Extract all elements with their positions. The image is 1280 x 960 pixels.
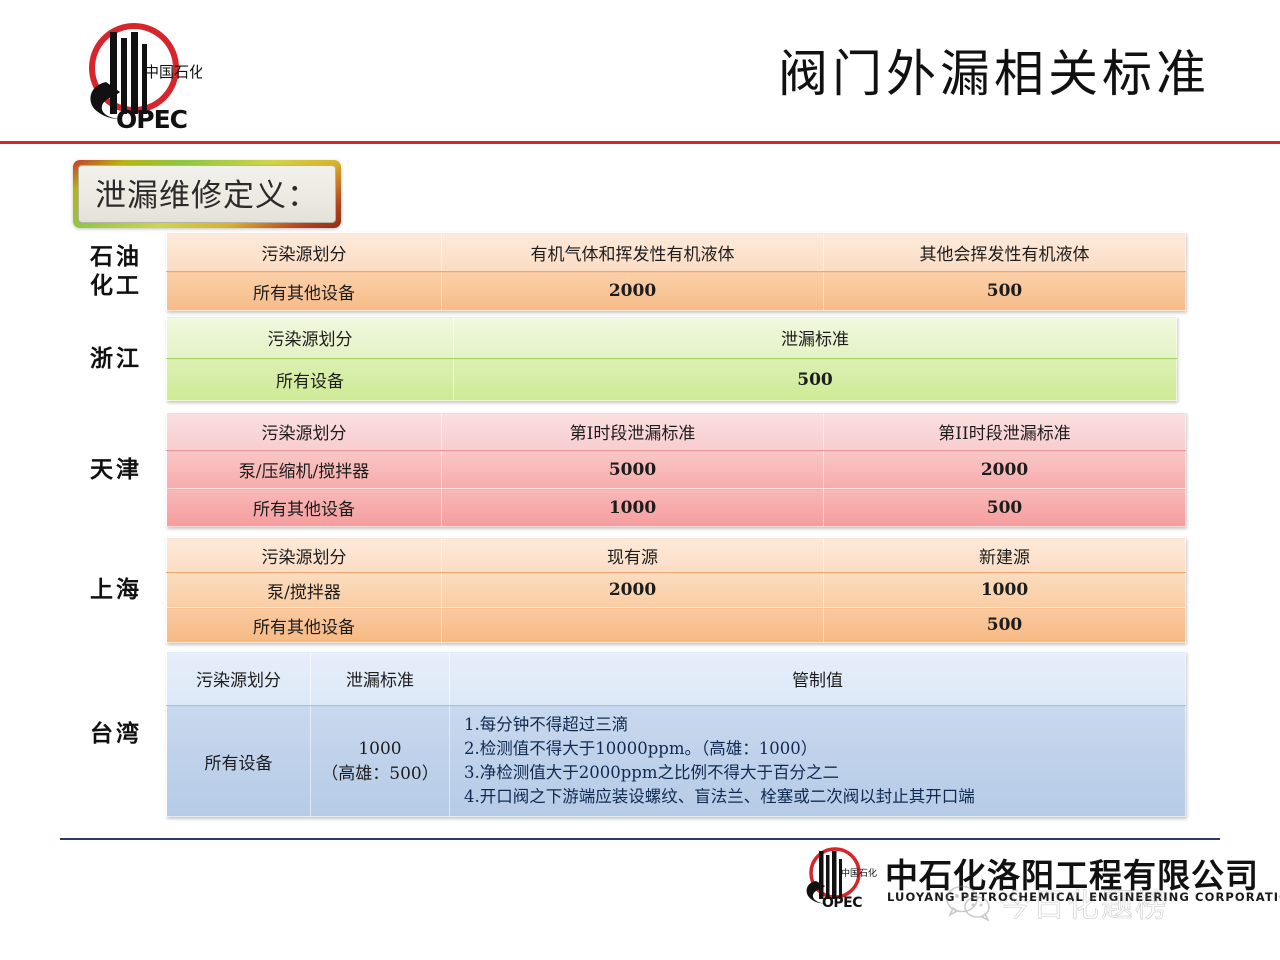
col-header-phase1: 第I时段泄漏标准 (442, 413, 824, 451)
slide-root: 中国石化 OPEC 阀门外漏相关标准 泄漏维修定义： 石油 化工 污染源划分 有… (0, 0, 1280, 960)
col-header-source: 污染源划分 (167, 233, 442, 272)
section-subtitle-box: 泄漏维修定义： (78, 165, 336, 223)
sinopec-logo-footer-svg: 中国石化 OPEC (795, 847, 877, 909)
table-header-row: 污染源划分 第I时段泄漏标准 第II时段泄漏标准 (167, 413, 1186, 451)
col-header-voc-gas: 有机气体和挥发性有机液体 (442, 233, 824, 272)
cell-source: 所有其他设备 (167, 272, 442, 311)
standard-value: 1000 (315, 739, 445, 759)
sinopec-logo-svg: 中国石化 OPEC (72, 22, 202, 132)
cell-value: 500 (824, 272, 1186, 311)
table-taiwan: 污染源划分 泄漏标准 管制值 所有设备 1000 （高雄：500） 1.每分钟不… (166, 651, 1186, 817)
slide-footer: 中国石化 OPEC 中石化洛阳工程有限公司 LUOYANG PETROCHEMI… (795, 845, 1235, 915)
row-label-shanghai: 上海 (72, 574, 160, 605)
table-header-row: 污染源划分 泄漏标准 管制值 (167, 652, 1186, 706)
col-header-phase2: 第II时段泄漏标准 (824, 413, 1186, 451)
cell-value: 500 (454, 359, 1177, 401)
cell-source: 泵/压缩机/搅拌器 (167, 451, 442, 489)
table-row: 泵/搅拌器 2000 1000 (167, 573, 1186, 608)
cell-value: 1000 (824, 573, 1186, 608)
cell-source: 所有其他设备 (167, 489, 442, 527)
cell-source: 所有其他设备 (167, 608, 442, 643)
table-petrochem: 污染源划分 有机气体和挥发性有机液体 其他会挥发性有机液体 所有其他设备 200… (166, 232, 1186, 311)
col-header-leak-standard: 泄漏标准 (454, 317, 1177, 359)
table-row: 所有设备 500 (167, 359, 1177, 401)
slide-header: 中国石化 OPEC 阀门外漏相关标准 (0, 0, 1280, 140)
table-zhejiang: 污染源划分 泄漏标准 所有设备 500 (166, 316, 1177, 401)
col-header-existing-source: 现有源 (442, 538, 824, 573)
cell-source: 所有设备 (167, 359, 454, 401)
table-header-row: 污染源划分 有机气体和挥发性有机液体 其他会挥发性有机液体 (167, 233, 1186, 272)
block-taiwan: 台湾 污染源划分 泄漏标准 管制值 所有设备 1000 （高雄：500） 1.每… (72, 651, 1186, 817)
sinopec-logo-footer: 中国石化 OPEC (795, 847, 877, 909)
row-label-line1: 石油 (72, 243, 160, 272)
control-rules-list: 1.每分钟不得超过三滴 2.检测值不得大于10000ppm。（高雄：1000） … (454, 707, 1181, 815)
table-row: 所有设备 1000 （高雄：500） 1.每分钟不得超过三滴 2.检测值不得大于… (167, 706, 1186, 817)
rule-item-4: 4.开口阀之下游端应装设螺纹、盲法兰、栓塞或二次阀以封止其开口端 (464, 785, 1171, 809)
block-shanghai: 上海 污染源划分 现有源 新建源 泵/搅拌器 2000 1000 所有其他设备 … (72, 537, 1186, 643)
col-header-source: 污染源划分 (167, 538, 442, 573)
table-row: 所有其他设备 500 (167, 608, 1186, 643)
block-tianjin: 天津 污染源划分 第I时段泄漏标准 第II时段泄漏标准 泵/压缩机/搅拌器 50… (72, 412, 1186, 527)
rule-item-2: 2.检测值不得大于10000ppm。（高雄：1000） (464, 737, 1171, 761)
col-header-control-value: 管制值 (450, 652, 1186, 706)
footer-divider (60, 838, 1220, 840)
sinopec-logo: 中国石化 OPEC (72, 22, 202, 132)
table-header-row: 污染源划分 泄漏标准 (167, 317, 1177, 359)
header-divider (0, 141, 1280, 144)
cell-control-rules: 1.每分钟不得超过三滴 2.检测值不得大于10000ppm。（高雄：1000） … (450, 706, 1186, 817)
cell-value: 5000 (442, 451, 824, 489)
rule-item-3: 3.净检测值大于2000ppm之比例不得大于百分之二 (464, 761, 1171, 785)
row-label-line2: 化工 (72, 272, 160, 301)
svg-text:中国石化: 中国石化 (144, 63, 202, 81)
cell-value: 500 (824, 608, 1186, 643)
table-header-row: 污染源划分 现有源 新建源 (167, 538, 1186, 573)
col-header-source: 污染源划分 (167, 413, 442, 451)
section-subtitle-text: 泄漏维修定义： (95, 170, 319, 215)
cell-value: 2000 (442, 272, 824, 311)
standard-note: （高雄：500） (315, 759, 445, 784)
row-label-tianjin: 天津 (72, 454, 160, 485)
col-header-source: 污染源划分 (167, 317, 454, 359)
cell-value: 1000 (442, 489, 824, 527)
svg-text:OPEC: OPEC (116, 105, 187, 132)
section-subtitle-frame: 泄漏维修定义： (73, 160, 341, 228)
table-tianjin: 污染源划分 第I时段泄漏标准 第II时段泄漏标准 泵/压缩机/搅拌器 5000 … (166, 412, 1186, 527)
col-header-new-source: 新建源 (824, 538, 1186, 573)
cell-source: 所有设备 (167, 706, 311, 817)
table-row: 泵/压缩机/搅拌器 5000 2000 (167, 451, 1186, 489)
page-title: 阀门外漏相关标准 (778, 34, 1210, 106)
cell-source: 泵/搅拌器 (167, 573, 442, 608)
footer-company-en: LUOYANG PETROCHEMICAL ENGINEERING CORPOR… (887, 890, 1280, 904)
cell-value: 2000 (442, 573, 824, 608)
rule-item-1: 1.每分钟不得超过三滴 (464, 713, 1171, 737)
cell-value (442, 608, 824, 643)
cell-standard: 1000 （高雄：500） (311, 706, 450, 817)
cell-value: 2000 (824, 451, 1186, 489)
table-row: 所有其他设备 1000 500 (167, 489, 1186, 527)
table-row: 所有其他设备 2000 500 (167, 272, 1186, 311)
block-petrochem: 石油 化工 污染源划分 有机气体和挥发性有机液体 其他会挥发性有机液体 所有其他… (72, 232, 1186, 311)
col-header-other-voc: 其他会挥发性有机液体 (824, 233, 1186, 272)
svg-text:中国石化: 中国石化 (841, 867, 877, 879)
cell-value: 500 (824, 489, 1186, 527)
table-shanghai: 污染源划分 现有源 新建源 泵/搅拌器 2000 1000 所有其他设备 500 (166, 537, 1186, 643)
row-label-taiwan: 台湾 (72, 718, 160, 749)
row-label-petrochem: 石油 化工 (72, 243, 160, 301)
col-header-source: 污染源划分 (167, 652, 311, 706)
row-label-zhejiang: 浙江 (72, 343, 160, 374)
svg-text:OPEC: OPEC (822, 895, 862, 909)
col-header-leak-standard: 泄漏标准 (311, 652, 450, 706)
block-zhejiang: 浙江 污染源划分 泄漏标准 所有设备 500 (72, 316, 1177, 401)
